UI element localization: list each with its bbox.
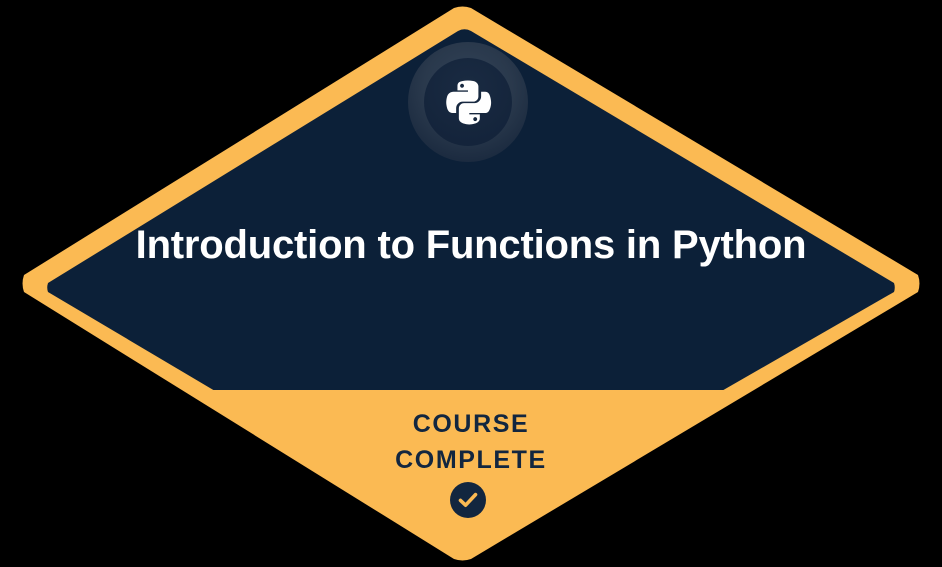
status-line-course: COURSE xyxy=(221,406,721,442)
python-logo-icon xyxy=(408,42,528,162)
status-line-complete: COMPLETE xyxy=(221,442,721,478)
check-circle-icon xyxy=(450,482,486,518)
course-title: Introduction to Functions in Python xyxy=(131,222,811,268)
course-completion-badge: Introduction to Functions in Python COUR… xyxy=(0,0,942,567)
status-label: COURSE COMPLETE xyxy=(221,406,721,478)
